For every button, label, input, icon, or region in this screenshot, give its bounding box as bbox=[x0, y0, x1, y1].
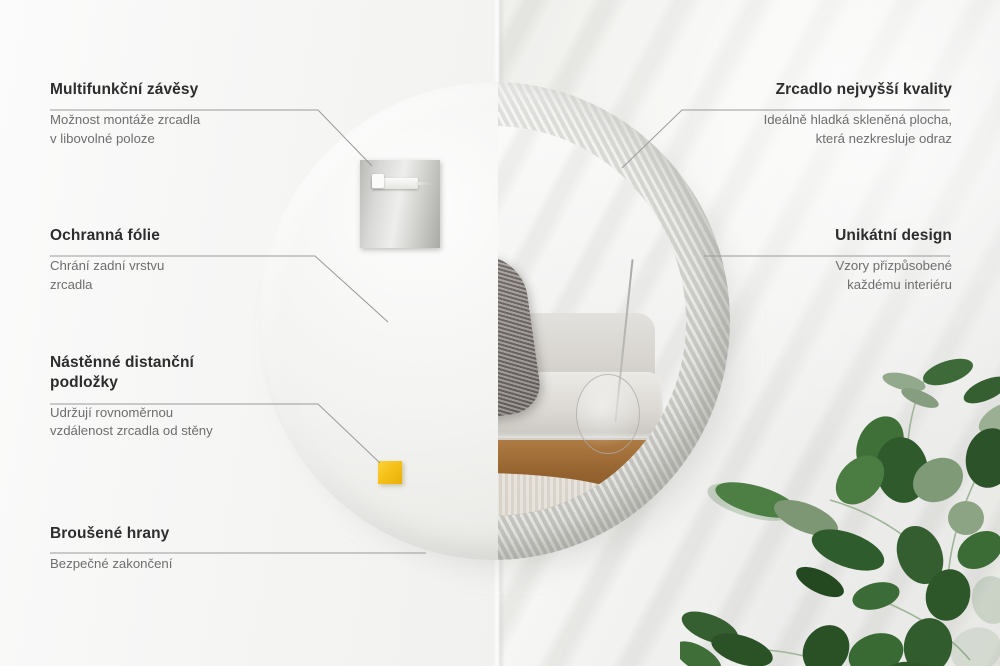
callout-title: Ochranná fólie bbox=[50, 226, 350, 246]
callout-highest-quality-mirror: Zrcadlo nejvyšší kvality Ideálně hladká … bbox=[612, 80, 952, 148]
callout-ground-edges: Broušené hrany Bezpečné zakončení bbox=[50, 524, 350, 574]
mirror-clip bbox=[258, 82, 730, 560]
callout-description: Udržují rovnoměrnouvzdálenost zrcadla od… bbox=[50, 404, 350, 441]
callout-multifunctional-hangers: Multifunkční závěsy Možnost montáže zrca… bbox=[50, 80, 350, 148]
callout-line: v libovolné poloze bbox=[50, 131, 155, 146]
callout-line: vzdálenost zrcadla od stěny bbox=[50, 423, 213, 438]
callout-description: Vzory přizpůsobenékaždému interiéru bbox=[652, 257, 952, 294]
hanger-slot-tail bbox=[416, 182, 434, 185]
callout-unique-design: Unikátní design Vzory přizpůsobenékaždém… bbox=[652, 226, 952, 294]
callout-description: Ideálně hladká skleněná plocha,která nez… bbox=[612, 111, 952, 148]
callout-title-line: podložky bbox=[50, 374, 118, 391]
callout-wall-spacers: Nástěnné distančnípodložky Udržují rovno… bbox=[50, 353, 350, 441]
callout-line: zrcadla bbox=[50, 277, 93, 292]
callout-description: Bezpečné zakončení bbox=[50, 555, 350, 574]
yellow-spacer-pad bbox=[378, 461, 402, 484]
callout-title: Broušené hrany bbox=[50, 524, 350, 544]
callout-title: Nástěnné distančnípodložky bbox=[50, 353, 350, 393]
callout-line: Bezpečné zakončení bbox=[50, 556, 172, 571]
callout-line: Možnost montáže zrcadla bbox=[50, 112, 200, 127]
round-mirror bbox=[258, 82, 730, 560]
metal-hanger-plate bbox=[360, 160, 440, 248]
infographic-canvas: Multifunkční závěsy Možnost montáže zrca… bbox=[0, 0, 1000, 666]
callout-line: Udržují rovnoměrnou bbox=[50, 405, 173, 420]
callout-description: Možnost montáže zrcadlav libovolné poloz… bbox=[50, 111, 350, 148]
hanger-keyhole-slot bbox=[372, 178, 418, 189]
callout-line: která nezkresluje odraz bbox=[816, 131, 952, 146]
callout-title-line: Nástěnné distanční bbox=[50, 354, 194, 371]
callout-title: Multifunkční závěsy bbox=[50, 80, 350, 100]
callout-line: Vzory přizpůsobené bbox=[835, 258, 952, 273]
reflected-lamp-shade bbox=[576, 374, 639, 454]
callout-line: každému interiéru bbox=[847, 277, 952, 292]
eucalyptus-foliage bbox=[680, 350, 1000, 666]
callout-title: Unikátní design bbox=[652, 226, 952, 246]
callout-line: Ideálně hladká skleněná plocha, bbox=[764, 112, 952, 127]
callout-line: Chrání zadní vrstvu bbox=[50, 258, 164, 273]
callout-description: Chrání zadní vrstvuzrcadla bbox=[50, 257, 350, 294]
callout-protective-foil: Ochranná fólie Chrání zadní vrstvuzrcadl… bbox=[50, 226, 350, 294]
callout-title: Zrcadlo nejvyšší kvality bbox=[612, 80, 952, 100]
